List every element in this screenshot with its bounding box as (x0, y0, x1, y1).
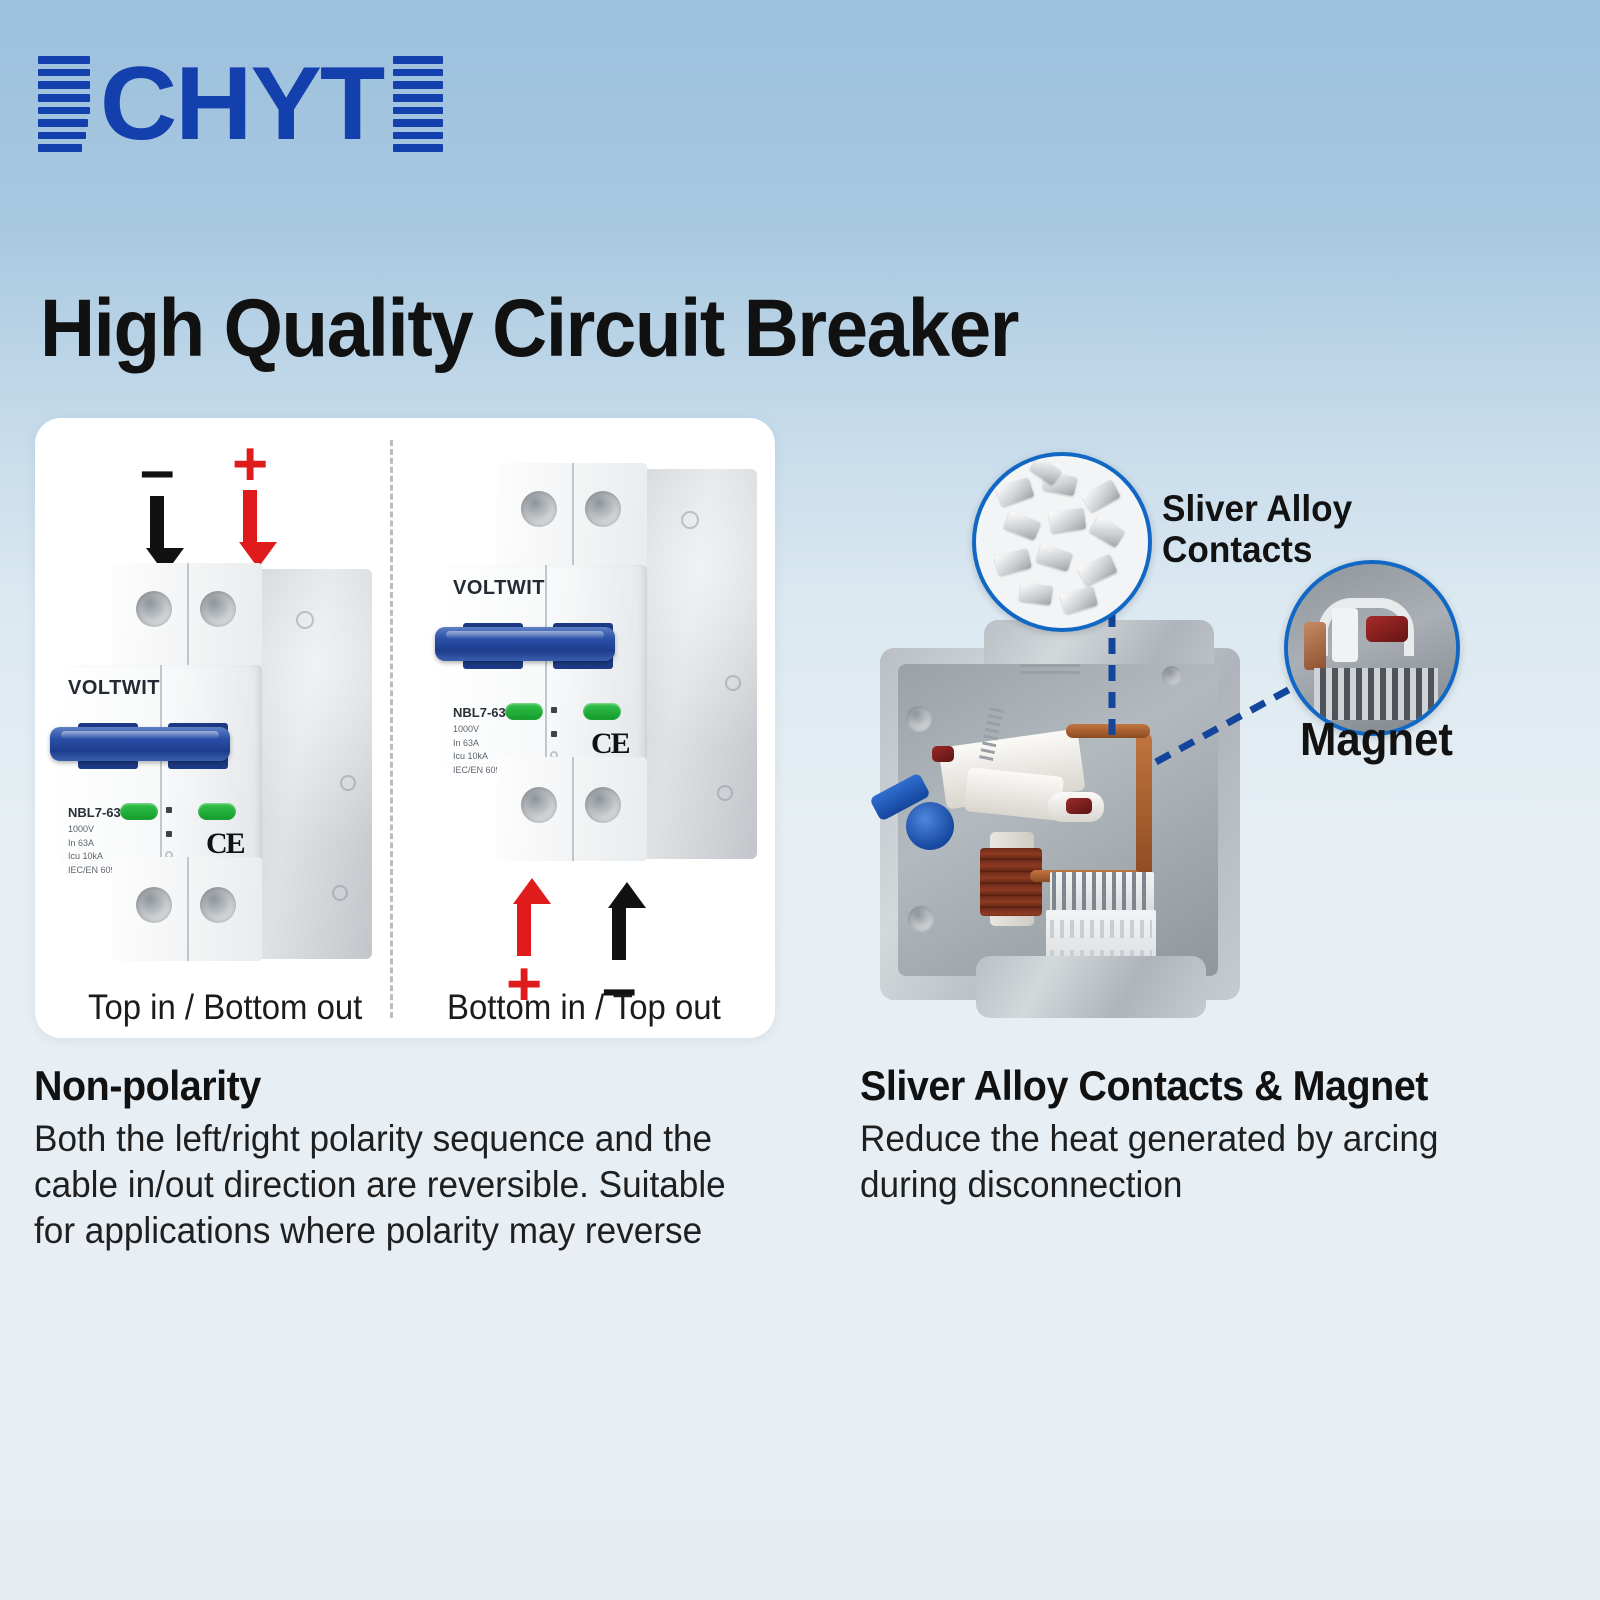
minus-sign: – (140, 446, 174, 496)
side-rivet-1 (296, 611, 314, 629)
magnet-block (1066, 798, 1092, 814)
logo-bars-right-icon (393, 56, 443, 152)
up-arrow-red-icon (513, 878, 535, 956)
up-arrow-black-icon (608, 882, 630, 960)
inset-sliver-alloy-contacts (972, 452, 1152, 632)
terminal-hole-top-2 (200, 591, 236, 627)
status-indicator-2 (198, 803, 236, 820)
state-dot-mid-2 (551, 731, 557, 737)
din-lever-knob[interactable] (906, 802, 954, 850)
plus-sign: + (232, 440, 268, 490)
cutaway-screw-1 (906, 706, 932, 732)
fixed-contact-pad (932, 746, 954, 762)
logo-bars-left-icon (38, 56, 90, 152)
seam-face (160, 665, 162, 865)
logo-wordmark: CHYT (100, 52, 383, 156)
breaker-product-bottom-in: VOLTWIT NBL7-63 1000V In 63A Icu 10kA IE… (425, 455, 765, 875)
caption-top-in-bottom-out: Top in / Bottom out (88, 988, 362, 1028)
non-polarity-body: Both the left/right polarity sequence an… (34, 1116, 766, 1254)
terminal-hole-bot-1 (136, 887, 172, 923)
seam-bottom (187, 857, 189, 961)
status-indicator-1 (120, 803, 158, 820)
label-sliver-alloy-contacts: Sliver Alloy Contacts (1162, 488, 1352, 571)
inset-magnet (1284, 560, 1460, 736)
side-rivet-6 (717, 785, 733, 801)
terminal-hole-bot-4 (585, 787, 621, 823)
seam-face-2 (545, 565, 547, 765)
arc-teeth-upper (1052, 872, 1152, 914)
cutaway-screw-2 (908, 906, 934, 932)
terminal-hole-top-1 (136, 591, 172, 627)
state-dot-on (166, 807, 172, 813)
model-text-2: NBL7-63 (453, 705, 506, 720)
sliver-alloy-heading: Sliver Alloy Contacts & Magnet (860, 1062, 1499, 1110)
non-polarity-heading: Non-polarity (34, 1062, 758, 1110)
mark-top-positive: + (232, 440, 268, 568)
terminal-hole-top-3 (521, 491, 557, 527)
side-rivet-5 (725, 675, 741, 691)
side-rivet-2 (340, 775, 356, 791)
page-title: High Quality Circuit Breaker (40, 282, 1018, 376)
toggle-lever[interactable] (50, 727, 230, 761)
breaker-product-top-in: VOLTWIT NBL7-63 1000V In 63A Icu 10kA IE… (40, 555, 380, 975)
toggle-lever-2[interactable] (435, 627, 615, 661)
terminal-hole-bot-2 (200, 887, 236, 923)
section-sliver-alloy: Sliver Alloy Contacts & Magnet Reduce th… (860, 1062, 1540, 1208)
side-rivet-4 (681, 511, 699, 529)
arc-plates-1 (1050, 920, 1152, 938)
status-indicator-3 (505, 703, 543, 720)
label-magnet: Magnet (1300, 712, 1453, 766)
sliver-alloy-body: Reduce the heat generated by arcing duri… (860, 1116, 1506, 1208)
status-indicator-4 (583, 703, 621, 720)
seam-top (187, 563, 189, 673)
seam-bottom-2 (572, 757, 574, 861)
card-divider (390, 440, 393, 1018)
brand-text: VOLTWIT (68, 677, 160, 700)
solenoid-coil (980, 848, 1042, 916)
side-rivet-3 (332, 885, 348, 901)
brand-text-2: VOLTWIT (453, 577, 545, 600)
ce-mark: CE (206, 827, 244, 861)
model-text: NBL7-63 (68, 805, 121, 820)
terminal-hole-top-4 (585, 491, 621, 527)
terminal-hole-bot-3 (521, 787, 557, 823)
state-dot-on-2 (551, 707, 557, 713)
state-dot-mid (166, 831, 172, 837)
section-non-polarity: Non-polarity Both the left/right polarit… (34, 1062, 804, 1254)
seam-top-2 (572, 463, 574, 573)
brand-logo: CHYT (38, 48, 443, 160)
caption-bottom-in-top-out: Bottom in / Top out (447, 988, 721, 1028)
cutaway-base (976, 956, 1206, 1018)
ce-mark-2: CE (591, 727, 629, 761)
